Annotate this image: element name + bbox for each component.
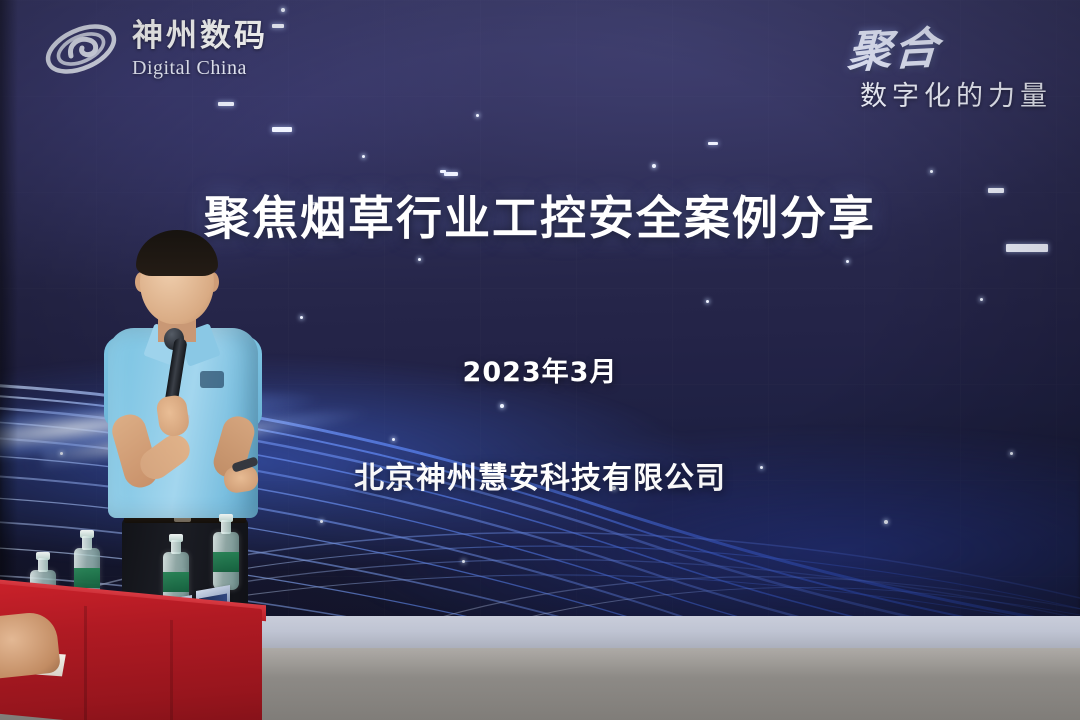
particle-dot (418, 258, 421, 261)
slogan-subtitle: 数字化的力量 (848, 74, 1052, 113)
particle-dot (980, 298, 983, 301)
speaker-chest-logo-icon (200, 371, 224, 388)
particle-dot (706, 300, 709, 303)
conference-stage-photo: 神州数码 Digital China 聚合 数字化的力量 聚焦烟草行业工控安全案… (0, 0, 1080, 720)
particle-dot (884, 520, 888, 524)
particle-dash (708, 142, 718, 145)
particle-dot (500, 404, 504, 408)
brand-name-en: Digital China (132, 58, 268, 78)
bottle-neck (82, 536, 92, 550)
particle-dot (392, 438, 395, 441)
particle-dash (272, 24, 284, 28)
table-cloth-fold (170, 620, 173, 720)
bottle-label (74, 568, 100, 588)
bottle-label (163, 572, 189, 592)
bottle-body (213, 532, 239, 590)
bottle-label (213, 552, 239, 572)
brand-name-cn: 神州数码 (132, 21, 268, 52)
bottle-neck (221, 520, 231, 534)
stage-left-shadow (0, 0, 18, 624)
particle-dot (300, 316, 303, 319)
table-cloth-fold (84, 606, 87, 720)
particle-dot (476, 114, 479, 117)
particle-dash (444, 172, 458, 176)
bottle-neck (38, 558, 48, 572)
bottle-neck (171, 540, 181, 554)
particle-dot (652, 164, 656, 168)
event-slogan: 聚合 数字化的力量 (848, 14, 1052, 113)
particle-dot (930, 170, 933, 173)
particle-dash (440, 170, 446, 173)
slogan-calligraphy: 聚合 (846, 12, 942, 81)
particle-dot (462, 560, 465, 563)
digital-china-logo: 神州数码 Digital China (42, 18, 268, 80)
particle-dash (218, 102, 234, 106)
particle-dot (846, 260, 849, 263)
speaker-hair (136, 230, 218, 276)
particle-dash (272, 127, 292, 132)
particle-dot (362, 155, 365, 158)
digital-china-swirl-icon (42, 18, 120, 80)
particle-dot (320, 520, 323, 523)
particle-dot (281, 8, 285, 12)
water-bottle (213, 532, 239, 590)
